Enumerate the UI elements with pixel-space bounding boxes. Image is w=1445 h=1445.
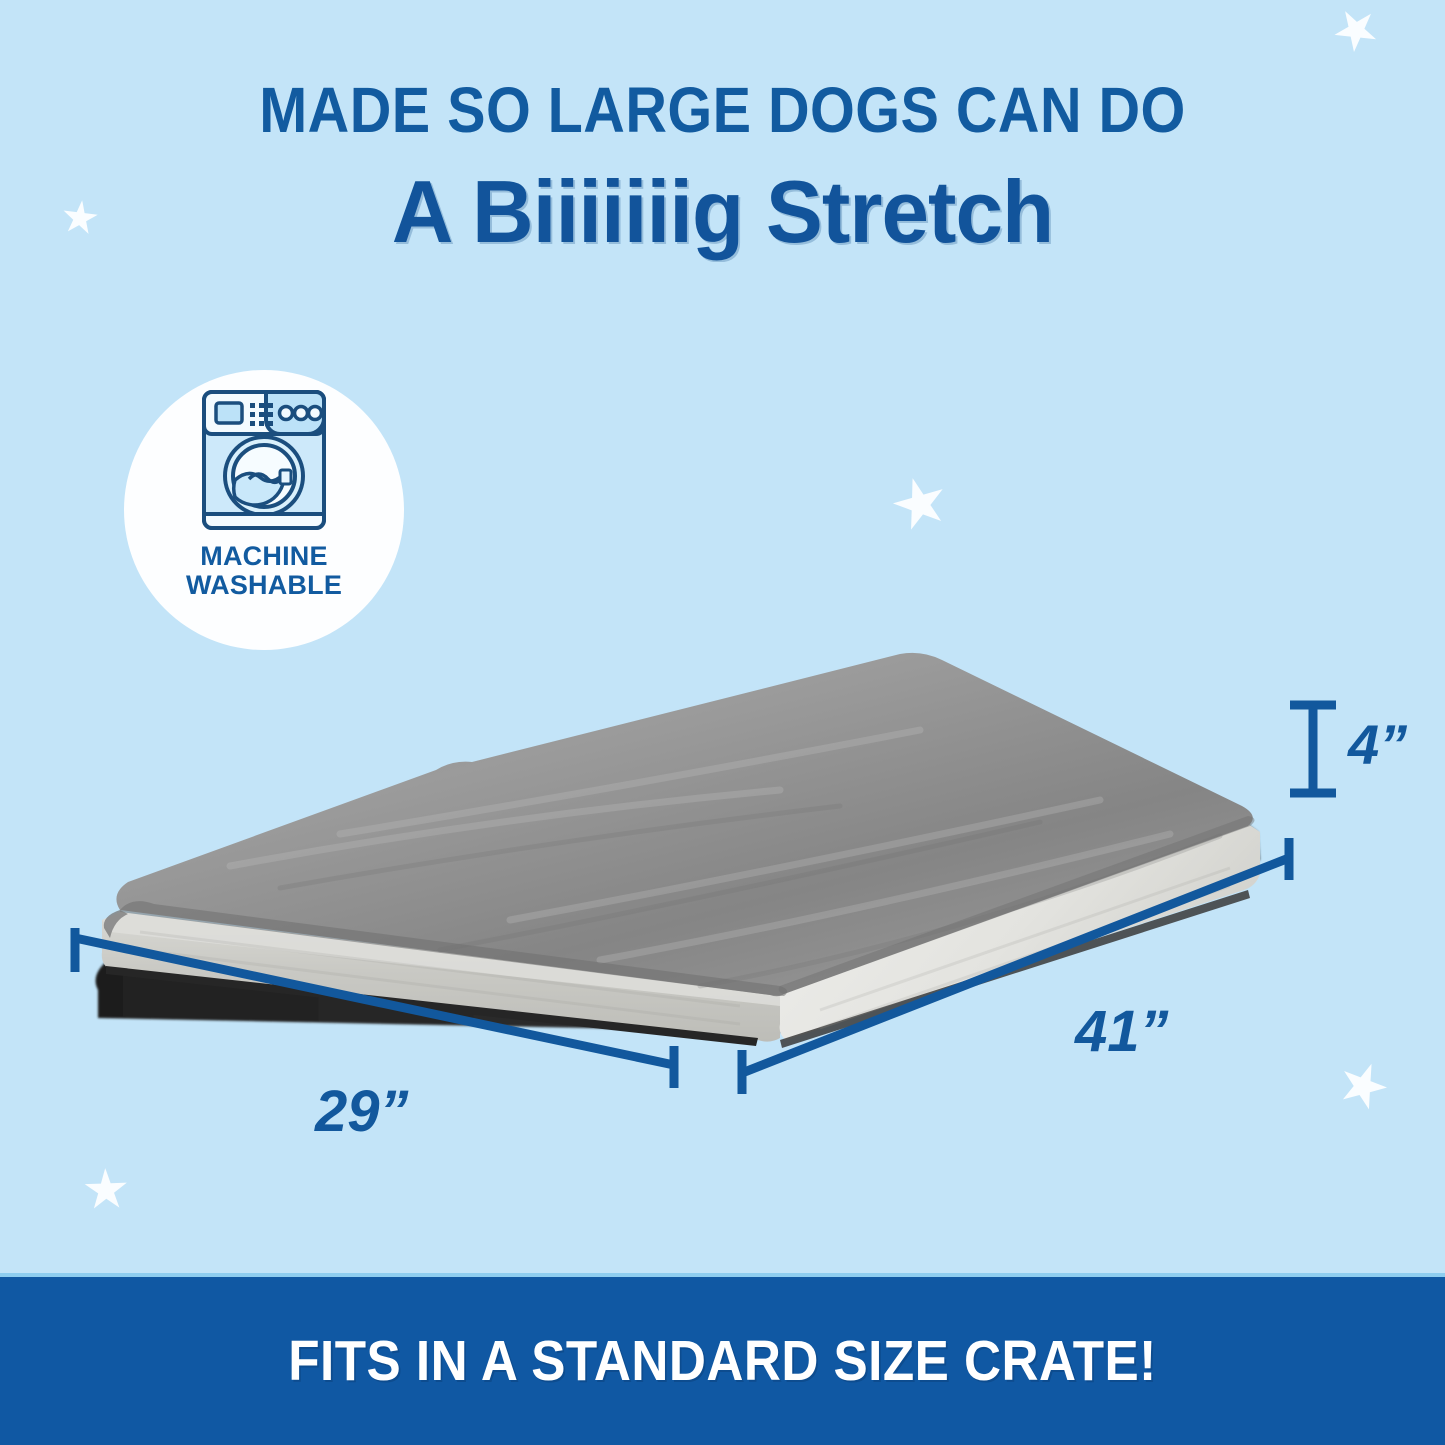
badge-label-line-1: MACHINE — [186, 542, 342, 571]
banner-text: FITS IN A STANDARD SIZE CRATE! — [288, 1328, 1156, 1394]
star-icon — [1326, 0, 1386, 60]
bottom-banner: FITS IN A STANDARD SIZE CRATE! — [0, 1277, 1445, 1445]
machine-washable-badge: MACHINE WASHABLE — [124, 370, 404, 650]
star-icon — [83, 1167, 129, 1213]
dimension-label-length: 41” — [1075, 998, 1169, 1065]
badge-label: MACHINE WASHABLE — [186, 542, 342, 600]
product-infographic: MADE SO LARGE DOGS CAN DO A Biiiiiiig St… — [0, 0, 1445, 1445]
star-icon — [1332, 1055, 1394, 1117]
washing-machine-icon — [194, 384, 334, 536]
star-icon — [887, 471, 954, 538]
product-image — [80, 620, 1310, 1050]
badge-label-line-2: WASHABLE — [186, 571, 342, 600]
headline-line-2: A Biiiiiiig Stretch — [22, 168, 1424, 256]
headline-block: MADE SO LARGE DOGS CAN DO A Biiiiiiig St… — [0, 78, 1445, 256]
dimension-label-width: 29” — [315, 1078, 409, 1145]
headline-line-1: MADE SO LARGE DOGS CAN DO — [72, 78, 1373, 142]
dimension-label-height: 4” — [1348, 712, 1407, 777]
